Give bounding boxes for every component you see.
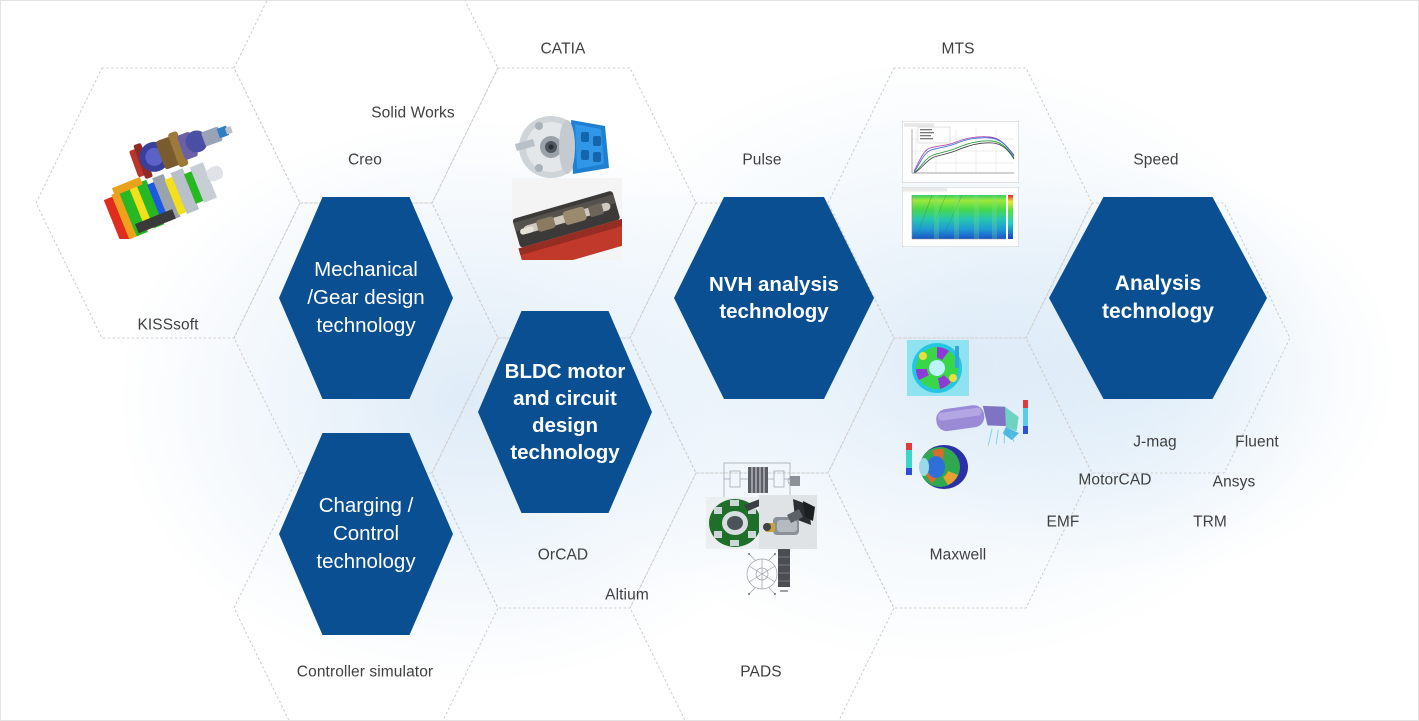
tool-label-maxwell: Maxwell — [930, 546, 987, 563]
tool-label-motorcad: MotorCAD — [1078, 471, 1151, 488]
tool-label-creo: Creo — [348, 151, 382, 168]
magnet-stack-diagram-image — [775, 549, 793, 595]
tool-label-emf: EMF — [1046, 513, 1079, 530]
pillar-label-nvh-analysis: NVH analysistechnology — [689, 271, 859, 325]
order-tracking-plot-image — [902, 121, 1019, 183]
pillar-label-analysis: Analysis technology — [1049, 270, 1267, 325]
tool-label-pulse: Pulse — [742, 151, 781, 168]
tool-label-ansys: Ansys — [1213, 473, 1256, 490]
pillar-label-mechanical-gear: Mechanical/Gear designtechnology — [290, 256, 442, 339]
pillar-hex-bldc-motor[interactable]: BLDC motorand circuit designtechnology — [478, 311, 652, 513]
pillar-hex-charging-control[interactable]: Charging / Controltechnology — [279, 433, 453, 635]
pillar-hex-nvh-analysis[interactable]: NVH analysistechnology — [674, 197, 874, 399]
pillar-label-charging-control: Charging / Controltechnology — [279, 492, 453, 575]
tool-label-fluent: Fluent — [1235, 433, 1279, 450]
tool-label-speed: Speed — [1133, 151, 1178, 168]
tool-label-pads: PADS — [740, 663, 781, 680]
motor-connector-photo-image — [759, 495, 817, 549]
pillar-hex-analysis[interactable]: Analysis technology — [1049, 197, 1267, 399]
tool-label-solid-works: Solid Works — [371, 104, 455, 121]
pillar-label-bldc-motor: BLDC motorand circuit designtechnology — [478, 358, 652, 466]
gearbox-cad-render-image — [101, 109, 251, 239]
green-pcb-photo-image — [706, 497, 764, 549]
rotor-thermal-fea-image — [904, 439, 976, 491]
tool-label-j-mag: J-mag — [1133, 433, 1177, 450]
shaft-cutaway-photo-image — [512, 178, 622, 260]
tool-label-controller-simulator: Controller simulator — [297, 663, 433, 680]
tool-label-kisssoft: KISSsoft — [137, 316, 198, 333]
dotted-hex-solidworks — [234, 1, 498, 203]
tool-label-trm: TRM — [1193, 513, 1227, 530]
stator-flux-fea-image — [907, 340, 969, 396]
tool-label-catia: CATIA — [541, 40, 586, 57]
tool-label-altium: Altium — [605, 586, 649, 603]
spectrogram-colormap-image — [902, 187, 1019, 247]
tool-label-orcad: OrCAD — [538, 546, 588, 563]
motor-assembly-photo-image — [509, 106, 617, 188]
diagram-canvas: .dh{fill:none;stroke:#cfcfcf;stroke-widt… — [0, 0, 1419, 721]
tool-label-mts: MTS — [941, 40, 974, 57]
pillar-hex-mechanical-gear[interactable]: Mechanical/Gear designtechnology — [279, 197, 453, 399]
